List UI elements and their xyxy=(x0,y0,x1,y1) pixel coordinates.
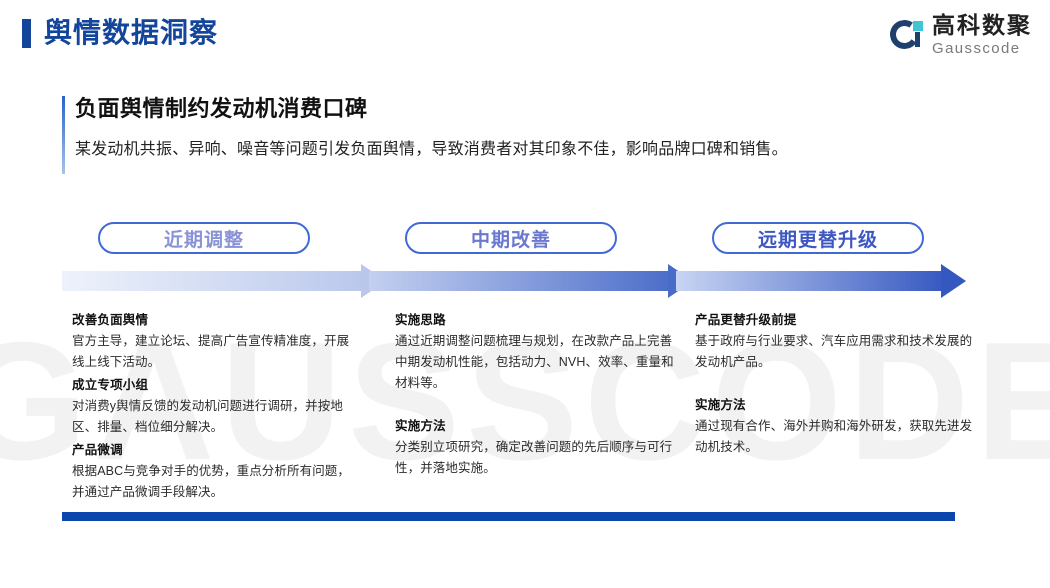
block-body: 官方主导，建立论坛、提高广告宣传精准度，开展线上线下活动。 xyxy=(72,331,357,373)
logo-stem-shape xyxy=(915,32,920,47)
arrow-segment-2-body xyxy=(369,271,676,291)
brand-logo: 高科数聚 Gausscode xyxy=(890,12,1032,58)
content-block: 产品微调 根据ABC与竞争对手的优势，重点分析所有问题，并通过产品微调手段解决。 xyxy=(72,440,357,503)
content-block: 实施方法 通过现有合作、海外并购和海外研发，获取先进发动机技术。 xyxy=(695,395,975,458)
content-block: 实施方法 分类别立项研究，确定改善问题的先后顺序与可行性，并落地实施。 xyxy=(395,416,675,479)
arrow-segment-3 xyxy=(676,264,949,298)
slide-canvas: GAUSSCODE 舆情数据洞察 高科数聚 Gausscode 负面舆情制约发动… xyxy=(0,0,1050,588)
block-heading: 改善负面舆情 xyxy=(72,310,357,331)
header-accent-bar xyxy=(22,19,31,48)
content-block: 成立专项小组 对消费y舆情反馈的发动机问题进行调研，并按地区、排量、档位细分解决… xyxy=(72,375,357,438)
column-near-term: 改善负面舆情 官方主导，建立论坛、提高广告宣传精准度，开展线上线下活动。 成立专… xyxy=(72,310,357,505)
timeline-arrow-band xyxy=(62,264,974,298)
content-block: 产品更替升级前提 基于政府与行业要求、汽车应用需求和技术发展的发动机产品。 xyxy=(695,310,975,373)
block-body: 通过现有合作、海外并购和海外研发，获取先进发动机技术。 xyxy=(695,416,975,458)
intro-subheadline: 某发动机共振、异响、噪音等问题引发负面舆情，导致消费者对其印象不佳，影响品牌口碑… xyxy=(75,138,1005,162)
block-body: 根据ABC与竞争对手的优势，重点分析所有问题，并通过产品微调手段解决。 xyxy=(72,461,357,503)
arrow-segment-2 xyxy=(369,264,676,298)
page-title: 舆情数据洞察 xyxy=(44,14,218,52)
content-block: 实施思路 通过近期调整问题梳理与规划，在改款产品上完善中期发动机性能，包括动力、… xyxy=(395,310,675,394)
block-body: 分类别立项研究，确定改善问题的先后顺序与可行性，并落地实施。 xyxy=(395,437,675,479)
footer-rule xyxy=(62,512,955,521)
block-heading: 成立专项小组 xyxy=(72,375,357,396)
block-body: 通过近期调整问题梳理与规划，在改款产品上完善中期发动机性能，包括动力、NVH、效… xyxy=(395,331,675,394)
phase-pill-long-term[interactable]: 远期更替升级 xyxy=(712,222,924,254)
arrow-segment-1 xyxy=(62,264,369,298)
phase-pill-near-term[interactable]: 近期调整 xyxy=(98,222,310,254)
slide-header: 舆情数据洞察 高科数聚 Gausscode xyxy=(0,0,1050,72)
logo-wordmark: 高科数聚 Gausscode xyxy=(932,14,1032,56)
block-heading: 产品微调 xyxy=(72,440,357,461)
block-heading: 实施方法 xyxy=(695,395,975,416)
block-heading: 实施思路 xyxy=(395,310,675,331)
block-body: 基于政府与行业要求、汽车应用需求和技术发展的发动机产品。 xyxy=(695,331,975,373)
column-long-term: 产品更替升级前提 基于政府与行业要求、汽车应用需求和技术发展的发动机产品。 实施… xyxy=(695,310,975,460)
arrow-segment-1-body xyxy=(62,271,369,291)
intro-headline: 负面舆情制约发动机消费口碑 xyxy=(75,94,1005,124)
logo-mark-icon xyxy=(890,18,924,52)
block-heading: 产品更替升级前提 xyxy=(695,310,975,331)
arrow-segment-3-head-icon xyxy=(941,264,966,298)
content-columns: 改善负面舆情 官方主导，建立论坛、提高广告宣传精准度，开展线上线下活动。 成立专… xyxy=(0,310,1050,500)
phase-pill-mid-term[interactable]: 中期改善 xyxy=(405,222,617,254)
logo-square-shape xyxy=(913,21,923,31)
logo-name-en: Gausscode xyxy=(932,41,1032,56)
content-block: 改善负面舆情 官方主导，建立论坛、提高广告宣传精准度，开展线上线下活动。 xyxy=(72,310,357,373)
block-body: 对消费y舆情反馈的发动机问题进行调研，并按地区、排量、档位细分解决。 xyxy=(72,396,357,438)
column-mid-term: 实施思路 通过近期调整问题梳理与规划，在改款产品上完善中期发动机性能，包括动力、… xyxy=(395,310,675,481)
phase-pill-row: 近期调整 中期改善 远期更替升级 xyxy=(0,222,1050,258)
logo-name-cn: 高科数聚 xyxy=(932,14,1032,37)
block-heading: 实施方法 xyxy=(395,416,675,437)
arrow-segment-3-body xyxy=(676,271,949,291)
intro-block: 负面舆情制约发动机消费口碑 某发动机共振、异响、噪音等问题引发负面舆情，导致消费… xyxy=(62,94,1005,162)
